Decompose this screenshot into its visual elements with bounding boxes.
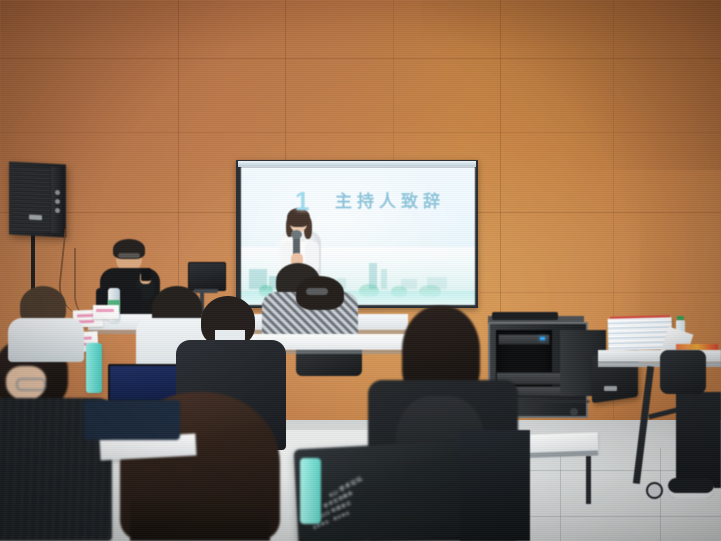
glasses-icon — [118, 253, 140, 258]
sneaker — [668, 478, 714, 498]
wedge-brand-logo — [604, 386, 617, 391]
person-bag — [660, 350, 706, 394]
cable-bundle — [492, 312, 558, 320]
wall-seam — [393, 0, 394, 160]
speaker-knob — [55, 190, 60, 195]
glasses-icon — [16, 378, 46, 391]
attendee-shoulders — [130, 500, 270, 541]
pa-speaker — [9, 162, 66, 238]
control-monitor — [188, 262, 226, 291]
monitor-stand — [194, 289, 218, 293]
wall-seam — [0, 132, 721, 133]
wall-seam — [480, 292, 721, 293]
speaker-knob — [55, 199, 60, 204]
cyan-tumbler — [300, 458, 321, 524]
speaker-logo — [29, 215, 42, 221]
name-tent-card — [93, 305, 119, 319]
desk-leg — [586, 456, 591, 504]
person-legs — [676, 392, 721, 488]
tent-card-text — [96, 309, 114, 312]
speaker-grille — [12, 166, 50, 232]
phone-icon — [141, 268, 151, 281]
glasses-icon — [306, 288, 328, 295]
cyan-tumbler — [86, 343, 102, 393]
skyline-tower — [381, 269, 387, 289]
wall-seam — [285, 0, 286, 160]
wall-seam — [0, 58, 721, 59]
microphone-head-icon — [291, 230, 302, 239]
rack-caster — [570, 408, 578, 416]
rack-status-led — [540, 337, 545, 340]
speaker-knob — [55, 208, 60, 213]
slide-number: 1 — [295, 188, 309, 214]
slide-title: 主持人致辞 — [335, 193, 445, 210]
attendee-torso — [8, 318, 84, 362]
foreground-chair-back — [84, 400, 180, 440]
wall-shadow-corner — [421, 0, 721, 170]
attendee-torso — [460, 430, 530, 541]
conference-room-photo: 1 主持人致辞 — [0, 0, 721, 541]
floor-cable — [530, 400, 590, 403]
bottle-cap — [677, 316, 684, 320]
table-caster — [646, 482, 663, 499]
